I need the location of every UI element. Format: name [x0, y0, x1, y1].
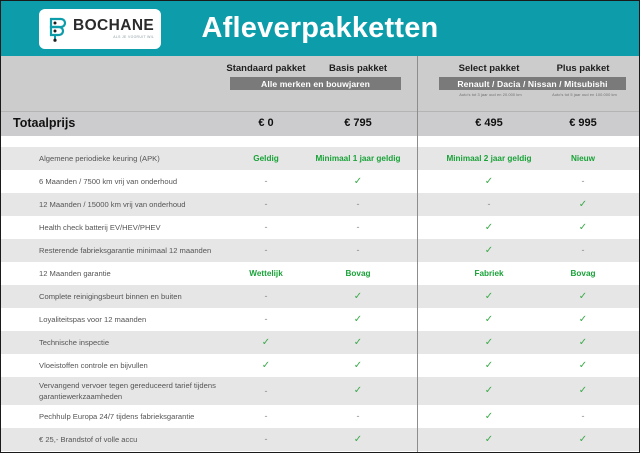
cell-basis: Minimaal 1 jaar geldig: [315, 147, 401, 170]
cell-plus: -: [540, 405, 626, 428]
cell-select: ✓: [446, 216, 532, 239]
table-row: € 25,- Brandstof of volle accu-✓✓✓: [1, 428, 639, 451]
check-icon: ✓: [485, 292, 493, 302]
dash-icon: -: [265, 246, 268, 255]
cell-select: ✓: [446, 331, 532, 354]
feature-table: Algemene periodieke keuring (APK)GeldigM…: [1, 147, 639, 451]
row-label: Vloeistoffen controle en bijvullen: [39, 354, 148, 377]
check-icon: ✓: [485, 361, 493, 371]
brand-logo: BOCHANE ALS JE VOORUIT WIL: [39, 9, 161, 49]
column-note-plus: Auto's tot 5 jaar oud en 100.000 km: [527, 92, 640, 97]
column-header-standaard: Standaard pakket: [223, 63, 309, 74]
check-icon: ✓: [354, 361, 362, 371]
dash-icon: -: [488, 200, 491, 209]
cell-basis: ✓: [315, 354, 401, 377]
cell-select: ✓: [446, 377, 532, 405]
brand-name: BOCHANE: [73, 18, 154, 34]
spacer: [1, 136, 639, 147]
cell-basis: ✓: [315, 428, 401, 451]
row-label: Loyaliteitspas voor 12 maanden: [39, 308, 146, 331]
cell-standaard: ✓: [223, 331, 309, 354]
table-row: 6 Maanden / 7500 km vrij van onderhoud-✓…: [1, 170, 639, 193]
brand-bar-right: Renault / Dacia / Nissan / Mitsubishi: [439, 77, 626, 90]
cell-plus: -: [540, 170, 626, 193]
cell-plus: ✓: [540, 377, 626, 405]
check-icon: ✓: [485, 386, 493, 396]
dash-icon: -: [265, 200, 268, 209]
check-icon: ✓: [579, 200, 587, 210]
cell-standaard: ✓: [223, 354, 309, 377]
bochane-b-mark-icon: [48, 16, 69, 42]
check-icon: ✓: [354, 338, 362, 348]
cell-standaard: -: [223, 308, 309, 331]
check-icon: ✓: [262, 361, 270, 371]
cell-basis: ✓: [315, 377, 401, 405]
cell-basis: -: [315, 405, 401, 428]
total-price-label: Totaalprijs: [13, 116, 75, 130]
cell-standaard: -: [223, 170, 309, 193]
cell-standaard: Wettelijk: [223, 262, 309, 285]
cell-plus: ✓: [540, 193, 626, 216]
row-label: Vervangend vervoer tegen gereduceerd tar…: [39, 377, 219, 405]
check-icon: ✓: [485, 223, 493, 233]
check-icon: ✓: [579, 435, 587, 445]
cell-standaard: Geldig: [223, 147, 309, 170]
check-icon: ✓: [485, 315, 493, 325]
price-plus: € 995: [540, 117, 626, 129]
cell-basis: -: [315, 216, 401, 239]
row-label: € 25,- Brandstof of volle accu: [39, 428, 137, 451]
cell-standaard: -: [223, 377, 309, 405]
table-row: Complete reinigingsbeurt binnen en buite…: [1, 285, 639, 308]
cell-select: -: [446, 193, 532, 216]
row-label: Algemene periodieke keuring (APK): [39, 147, 160, 170]
brand-tagline: ALS JE VOORUIT WIL: [73, 36, 154, 39]
check-icon: ✓: [354, 292, 362, 302]
row-label: Complete reinigingsbeurt binnen en buite…: [39, 285, 182, 308]
total-price-row: Totaalprijs € 0 € 795 € 495 € 995: [1, 111, 639, 136]
check-icon: ✓: [262, 338, 270, 348]
cell-select: ✓: [446, 239, 532, 262]
price-select: € 495: [446, 117, 532, 129]
package-group-divider: [417, 56, 418, 453]
cell-select: ✓: [446, 285, 532, 308]
check-icon: ✓: [354, 435, 362, 445]
cell-select: ✓: [446, 308, 532, 331]
column-header-select: Select pakket: [446, 63, 532, 74]
row-label: Pechhulp Europa 24/7 tijdens fabrieksgar…: [39, 405, 194, 428]
cell-basis: ✓: [315, 308, 401, 331]
table-row: 12 Maanden garantieWettelijkBovagFabriek…: [1, 262, 639, 285]
dash-icon: -: [582, 246, 585, 255]
table-row: 12 Maanden / 15000 km vrij van onderhoud…: [1, 193, 639, 216]
check-icon: ✓: [579, 386, 587, 396]
cell-standaard: -: [223, 239, 309, 262]
cell-plus: ✓: [540, 331, 626, 354]
dash-icon: -: [265, 435, 268, 444]
table-row: Loyaliteitspas voor 12 maanden-✓✓✓: [1, 308, 639, 331]
dash-icon: -: [357, 412, 360, 421]
table-row: Pechhulp Europa 24/7 tijdens fabrieksgar…: [1, 405, 639, 428]
row-label: 6 Maanden / 7500 km vrij van onderhoud: [39, 170, 177, 193]
cell-standaard: -: [223, 216, 309, 239]
cell-plus: ✓: [540, 308, 626, 331]
cell-select: Minimaal 2 jaar geldig: [446, 147, 532, 170]
table-row: Algemene periodieke keuring (APK)GeldigM…: [1, 147, 639, 170]
check-icon: ✓: [579, 292, 587, 302]
check-icon: ✓: [354, 315, 362, 325]
cell-basis: Bovag: [315, 262, 401, 285]
cell-basis: -: [315, 193, 401, 216]
dash-icon: -: [265, 177, 268, 186]
cell-select: ✓: [446, 405, 532, 428]
table-row: Technische inspectie✓✓✓✓: [1, 331, 639, 354]
package-header-band: Standaard pakket Basis pakket Select pak…: [1, 56, 639, 111]
row-label: 12 Maanden / 15000 km vrij van onderhoud: [39, 193, 186, 216]
cell-standaard: -: [223, 428, 309, 451]
dash-icon: -: [357, 200, 360, 209]
check-icon: ✓: [485, 412, 493, 422]
dash-icon: -: [357, 246, 360, 255]
row-label: Resterende fabrieksgarantie minimaal 12 …: [39, 239, 211, 262]
cell-standaard: -: [223, 405, 309, 428]
column-header-plus: Plus pakket: [540, 63, 626, 74]
dash-icon: -: [265, 223, 268, 232]
dash-icon: -: [582, 177, 585, 186]
table-row: Resterende fabrieksgarantie minimaal 12 …: [1, 239, 639, 262]
page-header: BOCHANE ALS JE VOORUIT WIL Afleverpakket…: [1, 1, 639, 56]
row-label: 12 Maanden garantie: [39, 262, 111, 285]
brand-bar-left: Alle merken en bouwjaren: [230, 77, 401, 90]
cell-select: Fabriek: [446, 262, 532, 285]
cell-select: ✓: [446, 354, 532, 377]
cell-standaard: -: [223, 285, 309, 308]
check-icon: ✓: [485, 177, 493, 187]
check-icon: ✓: [485, 246, 493, 256]
cell-basis: ✓: [315, 331, 401, 354]
cell-basis: ✓: [315, 170, 401, 193]
price-basis: € 795: [315, 117, 401, 129]
dash-icon: -: [265, 315, 268, 324]
cell-plus: Bovag: [540, 262, 626, 285]
cell-plus: -: [540, 239, 626, 262]
dash-icon: -: [357, 223, 360, 232]
cell-plus: Nieuw: [540, 147, 626, 170]
cell-plus: ✓: [540, 354, 626, 377]
cell-basis: -: [315, 239, 401, 262]
check-icon: ✓: [579, 338, 587, 348]
cell-select: ✓: [446, 428, 532, 451]
dash-icon: -: [265, 412, 268, 421]
check-icon: ✓: [579, 361, 587, 371]
cell-standaard: -: [223, 193, 309, 216]
check-icon: ✓: [579, 223, 587, 233]
table-row: Vervangend vervoer tegen gereduceerd tar…: [1, 377, 639, 405]
check-icon: ✓: [485, 338, 493, 348]
row-label: Technische inspectie: [39, 331, 109, 354]
check-icon: ✓: [579, 315, 587, 325]
table-row: Health check batterij EV/HEV/PHEV--✓✓: [1, 216, 639, 239]
check-icon: ✓: [354, 386, 362, 396]
check-icon: ✓: [354, 177, 362, 187]
cell-plus: ✓: [540, 428, 626, 451]
row-label: Health check batterij EV/HEV/PHEV: [39, 216, 161, 239]
table-row: Vloeistoffen controle en bijvullen✓✓✓✓: [1, 354, 639, 377]
afleverpakketten-page: BOCHANE ALS JE VOORUIT WIL Afleverpakket…: [0, 0, 640, 453]
dash-icon: -: [265, 387, 268, 396]
check-icon: ✓: [485, 435, 493, 445]
dash-icon: -: [265, 292, 268, 301]
cell-plus: ✓: [540, 285, 626, 308]
dash-icon: -: [582, 412, 585, 421]
cell-select: ✓: [446, 170, 532, 193]
column-header-basis: Basis pakket: [315, 63, 401, 74]
price-standaard: € 0: [223, 117, 309, 129]
cell-basis: ✓: [315, 285, 401, 308]
cell-plus: ✓: [540, 216, 626, 239]
